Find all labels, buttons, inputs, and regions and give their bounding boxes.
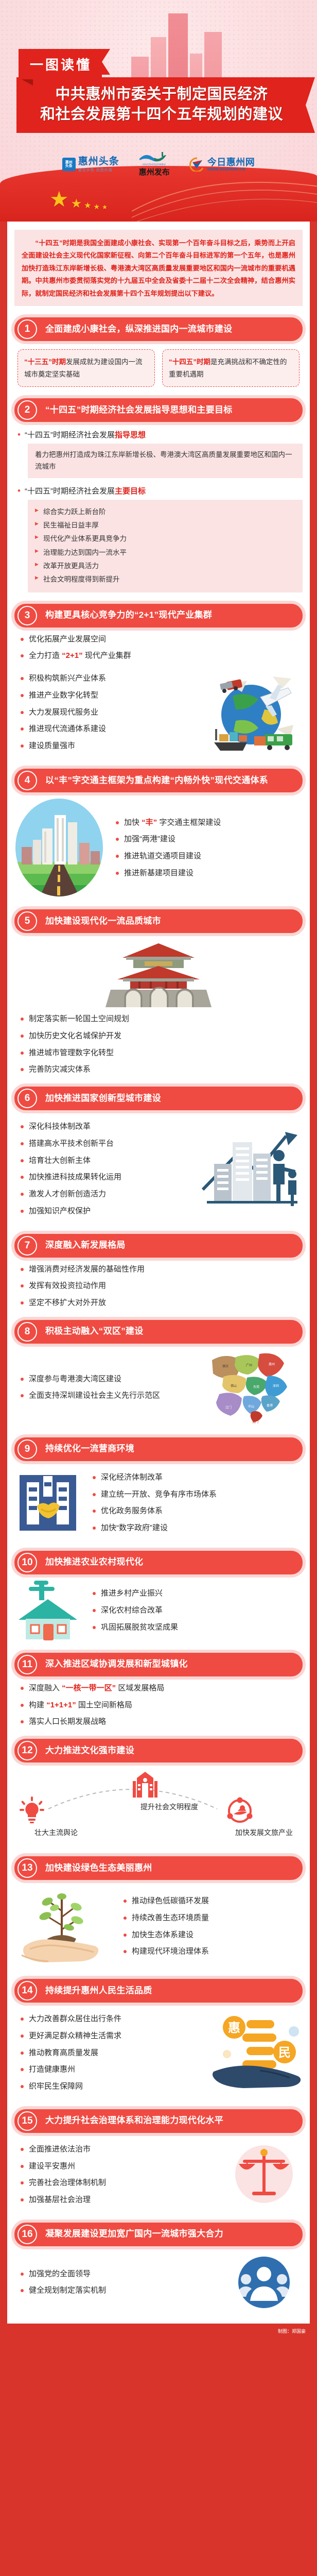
guiding-thought-box: 着力把惠州打造成为珠江东岸新增长极、粤港澳大湾区高质量发展重要地区和国内一流城市 <box>28 444 303 479</box>
dashed-box: “十三五”时期发展成就为建设国内一流城市奠定坚实基础 <box>17 349 155 387</box>
list-item: 改革开放更具活力 <box>35 560 295 573</box>
section-16-bullets: 加强党的全面领导 健全规划制定落实机制 <box>14 2268 220 2297</box>
wave-mountain-icon <box>139 152 168 163</box>
list-item: 培育壮大创新主体 <box>19 1155 195 1166</box>
section-4-bullets: 加快 “丰” 字交通主框架建设 加强“两港”建设 推进轨道交通项目建设 推进新基… <box>110 817 303 879</box>
section-5: 5 加快建设现代化一流品质城市 <box>14 909 303 1075</box>
list-item: 构建现代环境治理体系 <box>121 1946 303 1957</box>
tourism-icon <box>225 1797 254 1825</box>
svg-text:中山: 中山 <box>248 1404 254 1409</box>
publisher-logos: 惠州 头条 惠州头条 留住乡愁 创造价值 HUIZHOUFABU 惠州发布 <box>0 149 317 179</box>
section-16-title: 凝聚发展建设更加宽广国内一流城市强大合力 <box>45 2228 223 2240</box>
list-item: 推进乡村产业振兴 <box>91 1588 303 1599</box>
section-12: 12 大力推进文化强市建设 <box>14 1739 303 1845</box>
section-2: 2 “十四五”时期经济社会发展指导思想和主要目标 • “十四五”时期经济社会发展… <box>14 398 303 592</box>
box-highlight: “十三五”时期 <box>24 358 66 366</box>
section-13-title: 加快建设绿色生态美丽惠州 <box>45 1862 152 1874</box>
svg-text:江门: 江门 <box>225 1405 232 1410</box>
greater-bay-map-icon: 肇庆 广州 惠州 佛山 东莞 深圳 江门 中山 香港 澳门 <box>205 1349 303 1426</box>
section-13-bullets: 推动绿色低碳循环发展 持续改善生态环境质量 加快生态体系建设 构建现代环境治理体… <box>117 1895 303 1957</box>
section-3: 3 构建更具核心竞争力的“2+1”现代产业集群 优化拓展产业发展空间 全力打造 … <box>14 604 303 758</box>
section-14-header: 14 持续提升惠州人民生活品质 <box>14 1979 303 2003</box>
list-item: 持续改善生态环境质量 <box>121 1912 303 1924</box>
section-6-number: 6 <box>17 1089 37 1108</box>
intro-paragraph: “十四五”时期是我国全面建成小康社会、实现第一个百年奋斗目标之后，乘势而上开启全… <box>14 230 303 306</box>
list-item: 积极构筑新兴产业体系 <box>19 673 195 684</box>
list-item: 织牢民生保障网 <box>19 2081 207 2092</box>
list-item: 加强知识产权保护 <box>19 1206 195 1217</box>
section-3-bullets: 优化拓展产业发展空间 全力打造 “2+1” 现代产业集群 <box>14 634 303 662</box>
section-11-header: 11 深入推进区域协调发展和新型城镇化 <box>14 1653 303 1676</box>
read-tag-ribbon: 一图读懂 <box>19 49 102 79</box>
trio-item-right: 加快发展文旅产业 <box>225 1797 303 1838</box>
section-8-number: 8 <box>17 1322 37 1342</box>
section-10-number: 10 <box>17 1553 37 1572</box>
section-6-header: 6 加快推进国家创新型城市建设 <box>14 1087 303 1110</box>
section-11: 11 深入推进区域协调发展和新型城镇化 深度融入 “一核一带一区” 区域发展格局… <box>14 1653 303 1727</box>
read-tag-label: 一图读懂 <box>30 57 92 73</box>
section-12-header: 12 大力推进文化强市建设 <box>14 1739 303 1762</box>
main-goals-list: 综合实力跃上新台阶 民生福祉日益丰厚 现代化产业体系更具竞争力 治理能力达到国内… <box>35 505 295 587</box>
section-3-number: 3 <box>17 606 37 625</box>
logo-name-2: 惠州发布 <box>139 166 170 177</box>
list-item: 打造健康惠州 <box>19 2064 207 2075</box>
svg-text:香港: 香港 <box>267 1403 273 1408</box>
page-title-line-1: 中共惠州市委关于制定国民经济 <box>30 84 293 105</box>
list-item: 全面推进依法治市 <box>19 2144 220 2155</box>
list-item: 健全规划制定落实机制 <box>19 2285 220 2296</box>
section-15: 15 大力提升社会治理体系和治理能力现代化水平 全面推进依法治市 建设平安惠州 … <box>14 2109 303 2211</box>
list-item: 大力改善群众居住出行条件 <box>19 2013 207 2025</box>
rural-house-icon <box>14 1580 81 1641</box>
list-item: 社会文明程度得到新提升 <box>35 573 295 586</box>
list-item: 加强“两港”建设 <box>114 834 303 845</box>
section-9-number: 9 <box>17 1439 37 1459</box>
list-item: 推进现代流通体系建设 <box>19 723 195 735</box>
hand-sapling-icon <box>14 1885 112 1968</box>
list-item: 现代化产业体系更具竞争力 <box>35 532 295 546</box>
section-1-header: 1 全面建成小康社会，纵深推进国内一流城市建设 <box>14 317 303 341</box>
logo-huizhou-fabu: HUIZHOUFABU 惠州发布 <box>139 152 170 177</box>
svg-text:佛山: 佛山 <box>231 1384 237 1388</box>
list-item: 全力打造 “2+1” 现代产业集群 <box>19 650 303 662</box>
bullet-dot-icon: • <box>17 485 21 496</box>
section-8-body: 深度参与粤港澳大湾区建设 全面支持深圳建设社会主义先行示范区 <box>14 1349 303 1426</box>
section-5-header: 5 加快建设现代化一流品质城市 <box>14 909 303 933</box>
section-9-body: 深化经济体制改革 建立统一开放、竞争有序市场体系 优化政务服务体系 加快“数字政… <box>14 1466 303 1539</box>
svg-text:东莞: 东莞 <box>253 1385 259 1389</box>
section-4-number: 4 <box>17 771 37 790</box>
section-1-number: 1 <box>17 319 37 339</box>
trio-item-left: 壮大主流舆论 <box>17 1797 95 1838</box>
svg-text:广州: 广州 <box>246 1363 252 1367</box>
lightbulb-icon <box>17 1797 46 1825</box>
list-item: 深度参与粤港澳大湾区建设 <box>19 1374 200 1385</box>
swoosh-arrow-icon <box>189 157 205 172</box>
svg-text:深圳: 深圳 <box>273 1384 279 1388</box>
section-14-title: 持续提升惠州人民生活品质 <box>45 1985 152 1996</box>
section-9-header: 9 持续优化一流营商环境 <box>14 1437 303 1461</box>
list-item: 加快“数字政府”建设 <box>91 1522 303 1534</box>
section-14-body: 大力改善群众居住出行条件 更好满足群众精神生活需求 推动教育高质量发展 打造健康… <box>14 2008 303 2098</box>
section-10-header: 10 加快推进农业农村现代化 <box>14 1551 303 1574</box>
box-highlight: “十四五”时期 <box>169 358 210 366</box>
list-item: 全面支持深圳建设社会主义先行示范区 <box>19 1390 200 1401</box>
section-15-body: 全面推进依法治市 建设平安惠州 完善社会治理体制机制 加强基层社会治理 <box>14 2138 303 2211</box>
svg-text:民: 民 <box>278 2046 291 2060</box>
list-item: 完善社会治理体制机制 <box>19 2177 220 2189</box>
section-1-boxes: “十三五”时期发展成就为建设国内一流城市奠定坚实基础 “十四五”时期是充满挑战和… <box>14 349 303 387</box>
list-item: 建立统一开放、竞争有序市场体系 <box>91 1489 303 1500</box>
section-8-header: 8 积极主动融入“双区”建设 <box>14 1320 303 1344</box>
section-9: 9 持续优化一流营商环境 <box>14 1437 303 1539</box>
list-item: 增强消费对经济发展的基础性作用 <box>19 1264 303 1275</box>
list-item: 推动教育高质量发展 <box>19 2047 207 2059</box>
list-item: 大力发展现代服务业 <box>19 707 195 718</box>
list-item: 深化农村综合改革 <box>91 1605 303 1616</box>
section-8: 8 积极主动融入“双区”建设 深度参与粤港澳大湾区建设 全面支持深圳建设社会主义… <box>14 1320 303 1426</box>
section-3-bullets-more: 积极构筑新兴产业体系 推进产业数字化转型 大力发展现代服务业 推进现代流通体系建… <box>14 673 195 752</box>
list-item: 加快生态体系建设 <box>121 1929 303 1941</box>
section-10-title: 加快推进农业农村现代化 <box>45 1556 143 1568</box>
list-item: 构建 “1+1+1” 国土空间新格局 <box>19 1700 303 1711</box>
guiding-thought-text: 着力把惠州打造成为珠江东岸新增长极、粤港澳大湾区高质量发展重要地区和国内一流城市 <box>35 451 292 470</box>
section-16-number: 16 <box>17 2225 37 2244</box>
section-14-bullets: 大力改善群众居住出行条件 更好满足群众精神生活需求 推动教育高质量发展 打造健康… <box>14 2013 207 2092</box>
trio-caption: 壮大主流舆论 <box>17 1827 95 1838</box>
trio-caption: 加快发展文旅产业 <box>225 1827 303 1838</box>
section-16-header: 16 凝聚发展建设更加宽广国内一流城市强大合力 <box>14 2223 303 2246</box>
section-3-body: 积极构筑新兴产业体系 推进产业数字化转型 大力发展现代服务业 推进现代流通体系建… <box>14 667 303 757</box>
section-6-bullets: 深化科技体制改革 搭建高水平技术创新平台 培育壮大创新主体 加快推进科技成果转化… <box>14 1121 195 1217</box>
svg-text:惠: 惠 <box>228 2021 240 2035</box>
list-item: 更好满足群众精神生活需求 <box>19 2030 207 2042</box>
section-6-body: 深化科技体制改革 搭建高水平技术创新平台 培育壮大创新主体 加快推进科技成果转化… <box>14 1115 303 1223</box>
logo-huizhou-toutiao: 惠州 头条 惠州头条 留住乡愁 创造价值 <box>62 157 119 173</box>
list-item: 综合实力跃上新台阶 <box>35 505 295 519</box>
people-gear-icon <box>225 2251 303 2313</box>
logo-jinri-huizhou: 今日惠州网 WWW.HUIZHOU.CN <box>189 157 255 172</box>
content-sheet: “十四五”时期是我国全面建成小康社会、实现第一个百年奋斗目标之后，乘势而上开启全… <box>7 222 310 2324</box>
logo-slogan-1: 留住乡愁 创造价值 <box>78 167 119 173</box>
section-15-number: 15 <box>17 2111 37 2131</box>
logo-slogan-3: WWW.HUIZHOU.CN <box>207 167 255 172</box>
svg-text:澳门: 澳门 <box>252 1420 258 1424</box>
list-item: 落实人口长期发展战略 <box>19 1716 303 1727</box>
list-item: 深化科技体制改革 <box>19 1121 195 1132</box>
infographic-page: 一图读懂 中共惠州市委关于制定国民经济 和社会发展第十四个五年规划的建议 惠州 … <box>0 0 317 2342</box>
list-item: 加强基层社会治理 <box>19 2194 220 2206</box>
section-7-header: 7 深度融入新发展格局 <box>14 1234 303 1258</box>
section-12-number: 12 <box>17 1741 37 1760</box>
list-item: 激发人才创新创造活力 <box>19 1189 195 1200</box>
hero-banner: 一图读懂 中共惠州市委关于制定国民经济 和社会发展第十四个五年规划的建议 惠州 … <box>0 0 317 222</box>
trio-caption: 提升社会文明程度 <box>131 1802 208 1812</box>
section-4-body: 加快 “丰” 字交通主框架建设 加强“两港”建设 推进轨道交通项目建设 推进新基… <box>14 798 303 898</box>
list-item: 加强党的全面领导 <box>19 2268 220 2280</box>
section-10-body: 推进乡村产业振兴 深化农村综合改革 巩固拓展脱贫攻坚成果 <box>14 1580 303 1641</box>
huizhou-toutiao-badge-icon: 惠州 头条 <box>62 158 76 171</box>
section-5-bullets: 制定落实新一轮国土空间规划 加快历史文化名城保护开发 推进城市管理数字化转型 完… <box>14 1013 303 1075</box>
list-item: 优化拓展产业发展空间 <box>19 634 303 645</box>
bullet-dot-icon: • <box>17 429 21 440</box>
section-6-title: 加快推进国家创新型城市建设 <box>45 1093 161 1104</box>
section-7: 7 深度融入新发展格局 增强消费对经济发展的基础性作用 发挥有效投资拉动作用 坚… <box>14 1234 303 1309</box>
section-15-header: 15 大力提升社会治理体系和治理能力现代化水平 <box>14 2109 303 2133</box>
section-12-trio: 壮大主流舆论 提升社会文明程度 <box>14 1768 303 1845</box>
list-item: 巩固拓展脱贫攻坚成果 <box>91 1622 303 1633</box>
section-7-title: 深度融入新发展格局 <box>45 1240 126 1251</box>
svg-text:肇庆: 肇庆 <box>222 1364 228 1368</box>
list-item: 推进新基建项目建设 <box>114 868 303 879</box>
label-highlight: 指导思想 <box>115 431 146 439</box>
label-plain: “十四五”时期经济社会发展 <box>25 431 115 439</box>
list-item: 民生福祉日益丰厚 <box>35 519 295 532</box>
section-10-bullets: 推进乡村产业振兴 深化农村综合改革 巩固拓展脱贫攻坚成果 <box>86 1588 303 1633</box>
list-item: 推进产业数字化转型 <box>19 690 195 701</box>
section-13-header: 13 加快建设绿色生态美丽惠州 <box>14 1856 303 1880</box>
section-5-title: 加快建设现代化一流品质城市 <box>45 916 161 927</box>
huimin-hand-icon: 惠 民 <box>213 2014 303 2091</box>
list-item: 建设平安惠州 <box>19 2161 220 2172</box>
section-5-number: 5 <box>17 911 37 931</box>
list-item: 推动绿色低碳循环发展 <box>121 1895 303 1907</box>
subsection-label: • “十四五”时期经济社会发展指导思想 <box>14 429 303 440</box>
logo-slogan-2: HUIZHOUFABU <box>139 163 170 166</box>
main-goals-box: 综合实力跃上新台阶 民生福祉日益丰厚 现代化产业体系更具竞争力 治理能力达到国内… <box>28 500 303 592</box>
section-13-body: 推动绿色低碳循环发展 持续改善生态环境质量 加快生态体系建设 构建现代环境治理体… <box>14 1885 303 1968</box>
globe-logistics-icon <box>200 667 303 757</box>
list-item: 推进城市管理数字化转型 <box>19 1047 303 1059</box>
section-3-header: 3 构建更具核心竞争力的“2+1”现代产业集群 <box>14 604 303 628</box>
section-14-number: 14 <box>17 1981 37 2001</box>
list-item: 优化政务服务体系 <box>91 1505 303 1517</box>
title-ribbon: 中共惠州市委关于制定国民经济 和社会发展第十四个五年规划的建议 <box>16 77 306 133</box>
city-road-circle-icon <box>14 798 104 898</box>
growth-buildings-icon <box>200 1124 303 1214</box>
section-12-title: 大力推进文化强市建设 <box>45 1745 134 1756</box>
section-16: 16 凝聚发展建设更加宽广国内一流城市强大合力 加强党的全面领导 健全规划制定落… <box>14 2223 303 2313</box>
section-13: 13 加快建设绿色生态美丽惠州 <box>14 1856 303 1968</box>
svg-text:惠州: 惠州 <box>269 1362 275 1366</box>
section-8-bullets: 深度参与粤港澳大湾区建设 全面支持深圳建设社会主义先行示范区 <box>14 1374 200 1402</box>
section-1: 1 全面建成小康社会，纵深推进国内一流城市建设 “十三五”时期发展成就为建设国内… <box>14 317 303 387</box>
section-4-title: 以“丰”字交通主框架为重点构建“内畅外快”现代交通体系 <box>45 775 268 786</box>
section-11-title: 深入推进区域协调发展和新型城镇化 <box>45 1658 188 1670</box>
list-item: 治理能力达到国内一流水平 <box>35 546 295 560</box>
dashed-box: “十四五”时期是充满挑战和不确定性的重要机遇期 <box>162 349 300 387</box>
section-16-body: 加强党的全面领导 健全规划制定落实机制 <box>14 2251 303 2313</box>
page-title-line-2: 和社会发展第十四个五年规划的建议 <box>30 105 293 125</box>
section-11-bullets: 深度融入 “一核一带一区” 区域发展格局 构建 “1+1+1” 国土空间新格局 … <box>14 1683 303 1727</box>
balance-scale-icon <box>225 2141 303 2208</box>
label-highlight: 主要目标 <box>115 487 146 496</box>
section-4: 4 以“丰”字交通主框架为重点构建“内畅外快”现代交通体系 <box>14 769 303 898</box>
section-7-number: 7 <box>17 1236 37 1256</box>
handshake-building-icon <box>14 1472 81 1534</box>
list-item: 搭建高水平技术创新平台 <box>19 1138 195 1149</box>
section-13-number: 13 <box>17 1858 37 1878</box>
section-4-header: 4 以“丰”字交通主框架为重点构建“内畅外快”现代交通体系 <box>14 769 303 792</box>
section-6: 6 加快推进国家创新型城市建设 深化科技体制改革 搭建高水平技术创新平台 培育壮… <box>14 1087 303 1223</box>
section-3-title: 构建更具核心竞争力的“2+1”现代产业集群 <box>45 609 212 621</box>
building-icon <box>131 1771 160 1800</box>
list-item: 加快历史文化名城保护开发 <box>19 1030 303 1042</box>
logo-name-1: 惠州头条 <box>78 157 119 166</box>
list-item: 完善防灾减灾体系 <box>19 1064 303 1075</box>
section-1-title: 全面建成小康社会，纵深推进国内一流城市建设 <box>45 324 232 335</box>
section-9-title: 持续优化一流营商环境 <box>45 1443 134 1454</box>
label-plain: “十四五”时期经济社会发展 <box>25 487 115 496</box>
list-item: 深度融入 “一核一带一区” 区域发展格局 <box>19 1683 303 1694</box>
section-2-number: 2 <box>17 400 37 420</box>
section-7-bullets: 增强消费对经济发展的基础性作用 发挥有效投资拉动作用 坚定不移扩大对外开放 <box>14 1264 303 1309</box>
section-9-bullets: 深化经济体制改革 建立统一开放、竞争有序市场体系 优化政务服务体系 加快“数字政… <box>86 1472 303 1534</box>
logo-name-3: 今日惠州网 <box>207 158 255 167</box>
list-item: 加快 “丰” 字交通主框架建设 <box>114 817 303 828</box>
credit-note: 制图：郑国豪 <box>0 2324 317 2342</box>
subsection-label: • “十四五”时期经济社会发展主要目标 <box>14 485 303 496</box>
list-item: 坚定不移扩大对外开放 <box>19 1297 303 1309</box>
section-8-title: 积极主动融入“双区”建设 <box>45 1326 144 1337</box>
five-stars-decoration: ★★ ★★ ★ <box>49 189 108 210</box>
section-14: 14 持续提升惠州人民生活品质 大力改善群众居住出行条件 更好满足群众精神生活需… <box>14 1979 303 2098</box>
trio-item-center: 提升社会文明程度 <box>131 1771 208 1812</box>
city-gate-icon <box>89 940 228 1007</box>
section-2-title: “十四五”时期经济社会发展指导思想和主要目标 <box>45 404 233 416</box>
list-item: 加快推进科技成果转化运用 <box>19 1172 195 1183</box>
list-item: 建设质量强市 <box>19 740 195 752</box>
list-item: 发挥有效投资拉动作用 <box>19 1280 303 1292</box>
list-item: 制定落实新一轮国土空间规划 <box>19 1013 303 1025</box>
section-2-header: 2 “十四五”时期经济社会发展指导思想和主要目标 <box>14 398 303 422</box>
section-15-bullets: 全面推进依法治市 建设平安惠州 完善社会治理体制机制 加强基层社会治理 <box>14 2144 220 2206</box>
section-15-title: 大力提升社会治理体系和治理能力现代化水平 <box>45 2115 223 2126</box>
section-11-number: 11 <box>17 1655 37 1674</box>
section-10: 10 加快推进农业农村现代化 <box>14 1551 303 1641</box>
list-item: 深化经济体制改革 <box>91 1472 303 1483</box>
list-item: 推进轨道交通项目建设 <box>114 851 303 862</box>
